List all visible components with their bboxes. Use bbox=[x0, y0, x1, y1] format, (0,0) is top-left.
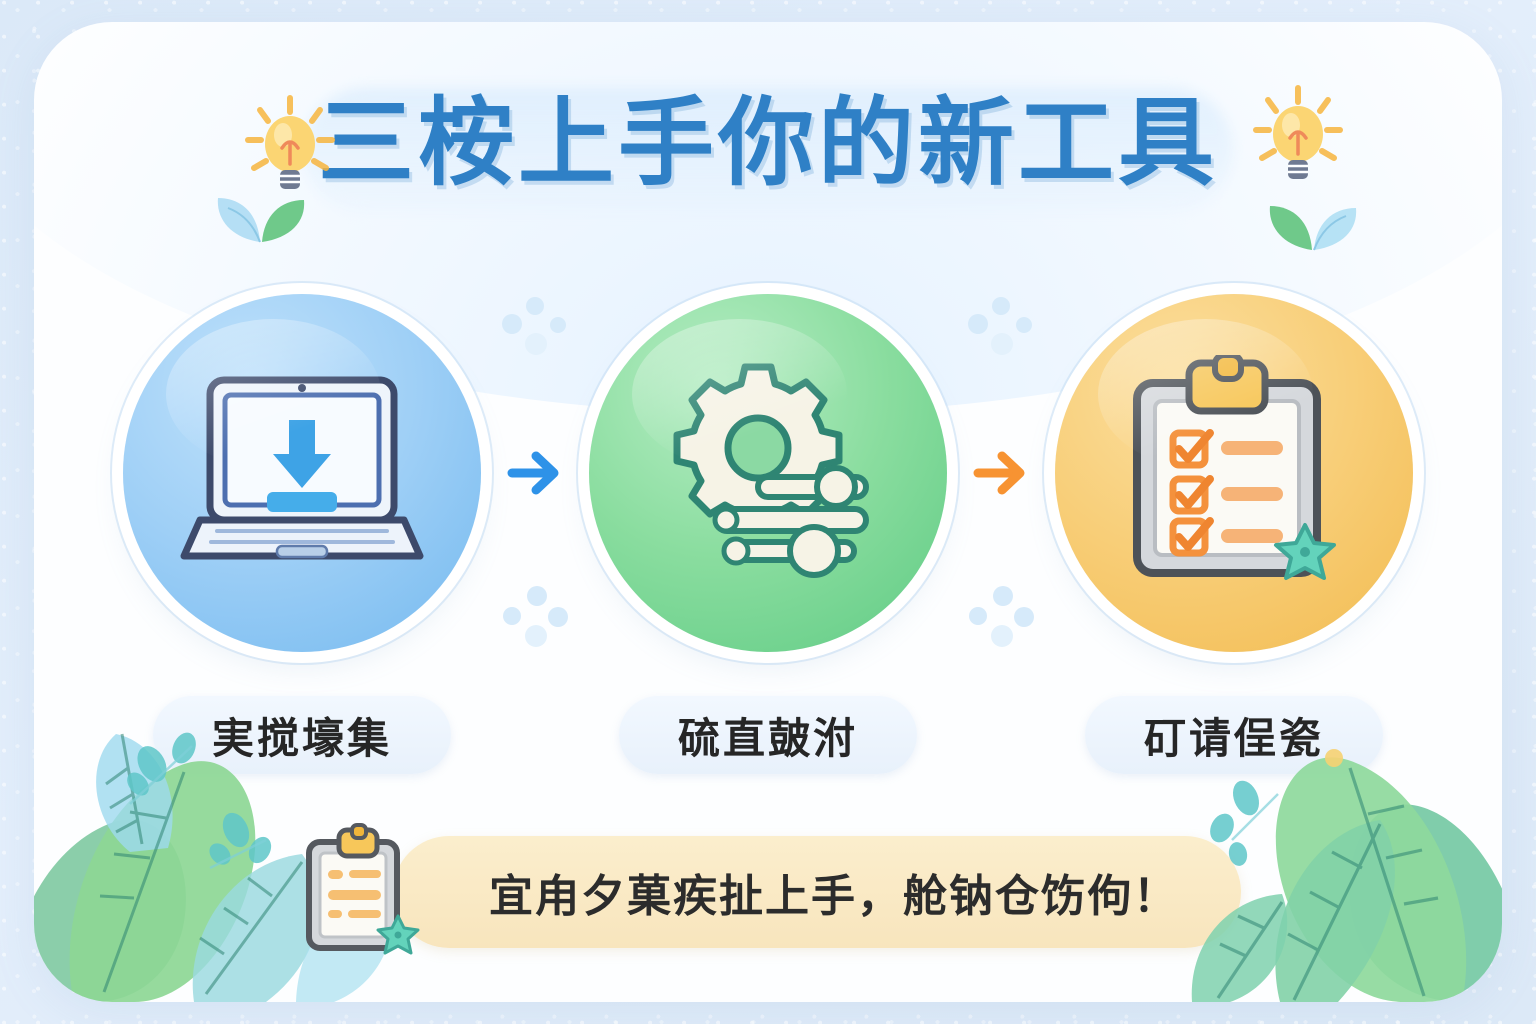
leaf-sprout-icon bbox=[1256, 190, 1376, 252]
step-1-label: 実搅壕集 bbox=[153, 696, 451, 774]
step-item-2[interactable]: 硫直皷泭 bbox=[578, 294, 958, 774]
steps-row: 実搅壕集 bbox=[34, 294, 1502, 774]
decorative-dots bbox=[964, 296, 1040, 360]
lightbulb-icon bbox=[1250, 84, 1346, 194]
step-2-circle[interactable] bbox=[589, 294, 947, 652]
poster-canvas: 三桉上手你的新工具 bbox=[0, 0, 1536, 1024]
clipboard-note-icon bbox=[295, 822, 427, 962]
step-1-circle[interactable] bbox=[123, 294, 481, 652]
footer-banner-text: 宜甪夕菓疾扯上手，舱钠仓饬佝！ bbox=[393, 836, 1241, 948]
gear-sliders-icon bbox=[650, 359, 886, 587]
poster-card: 三桉上手你的新工具 bbox=[34, 22, 1502, 1002]
footer-banner-row: 宜甪夕菓疾扯上手，舱钠仓饬佝！ bbox=[34, 822, 1502, 962]
arrow-right-icon bbox=[972, 447, 1030, 499]
decorative-dots bbox=[498, 296, 574, 360]
arrow-step2-to-step3 bbox=[958, 294, 1044, 652]
arrow-step1-to-step2 bbox=[492, 294, 578, 652]
decorative-dots bbox=[498, 584, 574, 648]
step-3-circle[interactable] bbox=[1055, 294, 1413, 652]
step-2-label: 硫直皷泭 bbox=[619, 696, 917, 774]
step-item-1[interactable]: 実搅壕集 bbox=[112, 294, 492, 774]
step-item-3[interactable]: 矴请侱瓷 bbox=[1044, 294, 1424, 774]
clipboard-checklist-icon bbox=[1119, 355, 1349, 591]
step-3-label: 矴请侱瓷 bbox=[1085, 696, 1383, 774]
arrow-right-icon bbox=[506, 447, 564, 499]
laptop-download-icon bbox=[177, 368, 427, 578]
decorative-dots bbox=[964, 584, 1040, 648]
leaf-sprout-icon bbox=[202, 182, 322, 244]
